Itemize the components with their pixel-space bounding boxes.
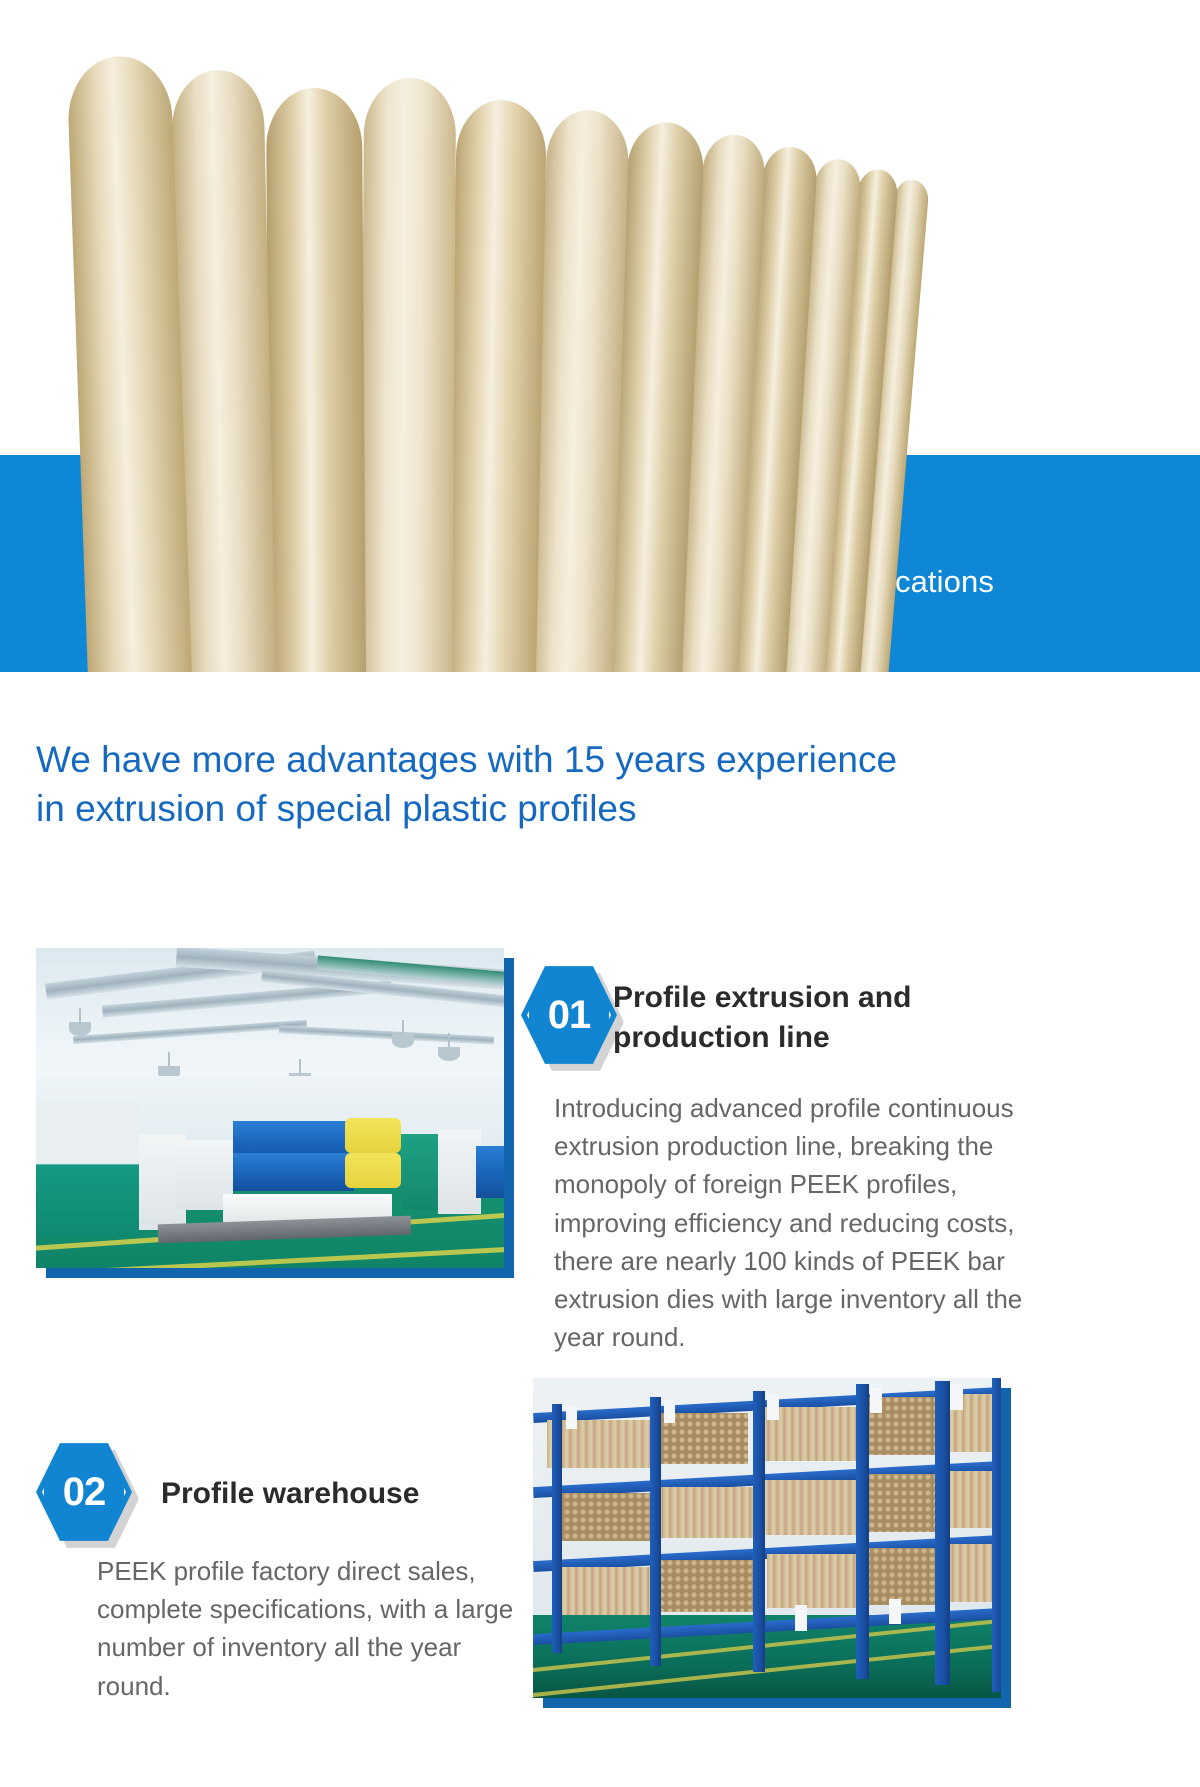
section-title-02: Profile warehouse (161, 1474, 521, 1514)
section-body-02: PEEK profile factory direct sales, compl… (97, 1552, 527, 1705)
headline-line-2: in extrusion of special plastic profiles (36, 784, 1166, 833)
value-proposition-headline: We have more advantages with 15 years ex… (36, 735, 1166, 833)
section-number-01: 01 (521, 963, 617, 1067)
section-badge-01: 01 (521, 963, 617, 1067)
section-title-01: Profile extrusion and production line (613, 978, 1063, 1057)
hero-section: PEEK rods Used for processing PEEK parts… (0, 0, 1200, 672)
warehouse-photo-frame (533, 1378, 1001, 1698)
factory-photo-frame (36, 948, 504, 1268)
extrusion-line-photo (36, 948, 504, 1268)
product-detail-page: PEEK rods Used for processing PEEK parts… (0, 0, 1200, 1787)
section-body-01: Introducing advanced profile continuous … (554, 1089, 1050, 1357)
warehouse-photo (533, 1378, 1001, 1698)
headline-line-1: We have more advantages with 15 years ex… (36, 735, 1166, 784)
section-badge-02: 02 (36, 1440, 132, 1544)
section-number-02: 02 (36, 1440, 132, 1544)
